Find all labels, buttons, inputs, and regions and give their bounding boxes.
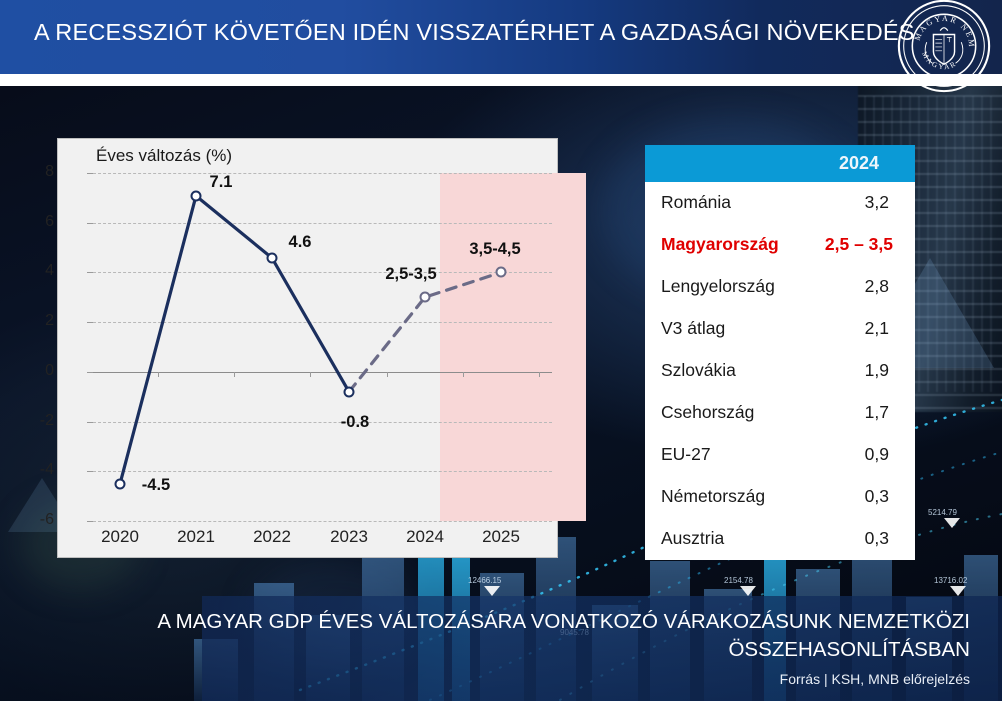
- table-cell-value: 3,2: [865, 192, 889, 213]
- table-cell-value: 2,5 – 3,5: [825, 234, 893, 255]
- header-divider: [0, 74, 1002, 86]
- y-axis-label: 4: [45, 262, 54, 280]
- caption-line-1: A MAGYAR GDP ÉVES VÁLTOZÁSÁRA VONATKOZÓ …: [128, 608, 970, 636]
- header-bar: A RECESSZIÓT KÖVETŐEN IDÉN VISSZATÉRHET …: [0, 0, 1002, 74]
- y-axis-label: 2: [45, 312, 54, 330]
- slide-root: 12466.15 2154.78 13716.02 5214.79 9045.7…: [0, 0, 1002, 701]
- slide-caption: A MAGYAR GDP ÉVES VÁLTOZÁSÁRA VONATKOZÓ …: [128, 608, 970, 664]
- data-label: -4.5: [142, 476, 170, 495]
- x-axis-label: 2023: [330, 527, 368, 547]
- table-row: Csehország 1,7: [645, 392, 915, 434]
- data-point: [496, 267, 507, 278]
- marker-triangle-icon: [944, 518, 960, 528]
- y-axis-label: 0: [45, 362, 54, 380]
- y-tick: [87, 372, 93, 373]
- table-cell-value: 0,3: [865, 486, 889, 507]
- table-cell-country: Csehország: [661, 402, 754, 423]
- data-point: [191, 190, 202, 201]
- background-number-tag: 12466.15: [468, 576, 501, 585]
- y-axis-label: 8: [45, 163, 54, 181]
- y-tick: [87, 471, 93, 472]
- table-header-row: 2024: [645, 145, 915, 182]
- table-cell-country: V3 átlag: [661, 318, 725, 339]
- data-label: 4.6: [289, 233, 312, 252]
- table-row: EU-27 0,9: [645, 434, 915, 476]
- data-label: 7.1: [210, 173, 233, 192]
- forecast-series-line: [349, 272, 501, 391]
- y-tick: [87, 173, 93, 174]
- y-axis-label: 6: [45, 213, 54, 231]
- table-cell-country: Románia: [661, 192, 731, 213]
- chart-series-lines: [93, 173, 552, 521]
- data-point: [344, 386, 355, 397]
- gridline: [93, 521, 552, 522]
- page-title: A RECESSZIÓT KÖVETŐEN IDÉN VISSZATÉRHET …: [34, 19, 915, 46]
- y-axis-label: -2: [40, 412, 54, 430]
- table-row: Lengyelország 2,8: [645, 266, 915, 308]
- table-cell-country: Lengyelország: [661, 276, 775, 297]
- table-row-highlighted: Magyarország 2,5 – 3,5: [645, 224, 915, 266]
- marker-triangle-icon: [484, 586, 500, 596]
- data-label: -0.8: [341, 413, 369, 432]
- table-cell-country: Ausztria: [661, 528, 724, 549]
- table-cell-value: 2,8: [865, 276, 889, 297]
- background-number-tag: 5214.79: [928, 508, 957, 517]
- y-tick: [87, 223, 93, 224]
- y-tick: [87, 422, 93, 423]
- table-cell-value: 1,7: [865, 402, 889, 423]
- marker-triangle-icon: [950, 586, 966, 596]
- table-row: Ausztria 0,3: [645, 518, 915, 560]
- data-point: [267, 253, 278, 264]
- table-cell-value: 0,3: [865, 528, 889, 549]
- gdp-comparison-table: 2024 Románia 3,2 Magyarország 2,5 – 3,5 …: [645, 145, 915, 560]
- table-cell-country: Szlovákia: [661, 360, 736, 381]
- table-row: Szlovákia 1,9: [645, 350, 915, 392]
- table-row: Németország 0,3: [645, 476, 915, 518]
- gdp-line-chart: Éves változás (%): [57, 138, 558, 558]
- chart-axis-title: Éves változás (%): [96, 146, 232, 166]
- x-axis-label: 2020: [101, 527, 139, 547]
- background-number-tag: 13716.02: [934, 576, 967, 585]
- table-cell-country: EU-27: [661, 444, 711, 465]
- y-tick: [87, 521, 93, 522]
- table-cell-country: Magyarország: [661, 234, 779, 255]
- data-point: [115, 478, 126, 489]
- data-label: 2,5-3,5: [385, 265, 436, 284]
- caption-line-2: ÖSSZEHASONLÍTÁSBAN: [128, 636, 970, 664]
- x-axis-label: 2024: [406, 527, 444, 547]
- table-cell-value: 0,9: [865, 444, 889, 465]
- source-note: Forrás | KSH, MNB előrejelzés: [780, 671, 970, 687]
- background-number-tag: 2154.78: [724, 576, 753, 585]
- y-axis-label: -4: [40, 461, 54, 479]
- table-row: V3 átlag 2,1: [645, 308, 915, 350]
- x-axis-label: 2022: [253, 527, 291, 547]
- x-axis-label: 2021: [177, 527, 215, 547]
- table-column-header-year: 2024: [839, 153, 879, 174]
- marker-triangle-icon: [740, 586, 756, 596]
- y-tick: [87, 322, 93, 323]
- table-cell-value: 1,9: [865, 360, 889, 381]
- data-label: 3,5-4,5: [469, 240, 520, 259]
- x-axis-label: 2025: [482, 527, 520, 547]
- data-point: [420, 292, 431, 303]
- y-tick: [87, 272, 93, 273]
- table-row: Románia 3,2: [645, 182, 915, 224]
- actual-series-line: [120, 196, 349, 484]
- y-axis-label: -6: [40, 511, 54, 529]
- table-cell-value: 2,1: [865, 318, 889, 339]
- table-cell-country: Németország: [661, 486, 765, 507]
- chart-plot-area: -4.5 7.1 4.6 -0.8 2,5-3,5 3,5-4,5: [93, 173, 552, 521]
- svg-text:MAGYAR NEMZETI BANK: MAGYAR NEMZETI BANK: [896, 0, 976, 49]
